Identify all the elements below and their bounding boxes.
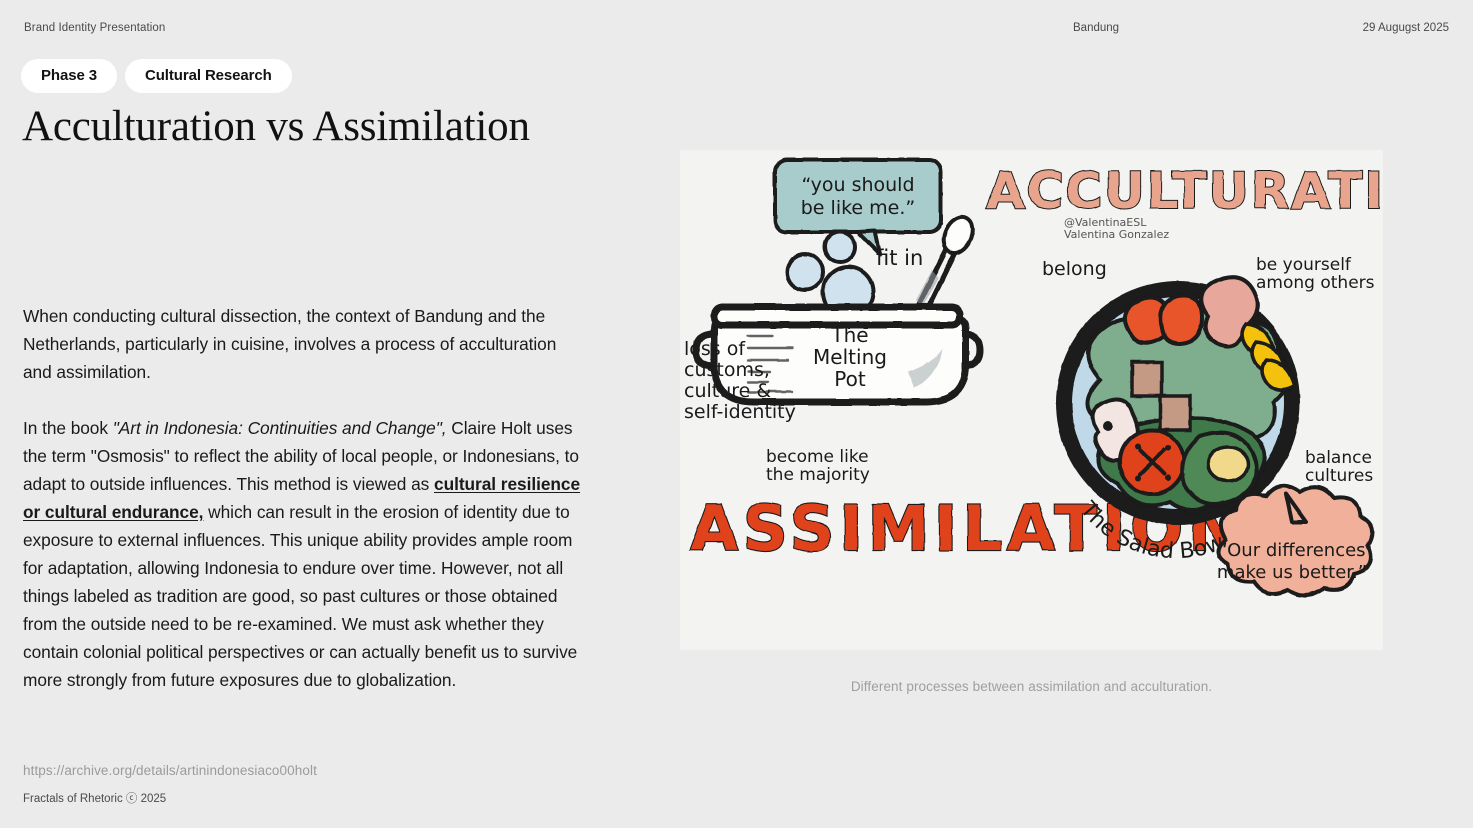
svg-text:Valentina Gonzalez: Valentina Gonzalez	[1064, 228, 1169, 241]
copyright-notice: Fractals of Rhetoric ⓒ 2025	[23, 790, 166, 806]
word-acculturation: ACCULTURATION	[986, 162, 1383, 220]
speech-bubble-right-line2: make us better.”	[1217, 562, 1367, 583]
label-belong: belong	[1042, 258, 1107, 280]
svg-text:the majority: the majority	[766, 465, 870, 485]
svg-text:ACCULTURATION: ACCULTURATION	[986, 162, 1383, 220]
pot-label-line2: Melting	[813, 345, 887, 369]
para2-part-a: In the book	[23, 418, 113, 438]
book-title: "Art in Indonesia: Continuities and Chan…	[113, 418, 447, 438]
label-balance-cultures: balance cultures	[1305, 448, 1373, 486]
pot-label-line3: Pot	[834, 367, 866, 391]
chip-category[interactable]: Cultural Research	[125, 59, 292, 93]
pot-label-line1: The	[830, 323, 868, 347]
assimilation-acculturation-illustration: “you should be like me.” fit in	[680, 150, 1383, 650]
svg-text:loss of: loss of	[684, 338, 746, 360]
svg-text:become like: become like	[766, 447, 869, 467]
svg-text:customs,: customs,	[684, 359, 770, 381]
label-become-like-majority: become like the majority	[766, 447, 870, 485]
svg-text:balance: balance	[1305, 448, 1372, 468]
label-be-yourself: be yourself among others	[1256, 255, 1375, 293]
header-location: Bandung	[1073, 22, 1119, 34]
speech-bubble-right-line1: “Our differences	[1218, 540, 1365, 561]
header-bar: Brand Identity Presentation Bandung 29 A…	[0, 22, 1473, 40]
page-title: Acculturation vs Assimilation	[22, 103, 530, 150]
svg-text:self-identity: self-identity	[684, 401, 796, 423]
figure-caption: Different processes between assimilation…	[680, 679, 1383, 694]
speech-bubble-left-line1: “you should	[801, 174, 914, 196]
svg-text:culture &: culture &	[684, 380, 771, 402]
svg-text:cultures: cultures	[1305, 466, 1373, 486]
para2-part-c: which can result in the erosion of ident…	[23, 502, 577, 690]
svg-text:among others: among others	[1256, 273, 1375, 293]
tag-chip-group: Phase 3 Cultural Research	[21, 59, 292, 93]
paragraph-intro: When conducting cultural dissection, the…	[23, 302, 588, 386]
chip-phase[interactable]: Phase 3	[21, 59, 117, 93]
label-fit-in: fit in	[876, 246, 923, 270]
salad-bowl	[1056, 277, 1300, 525]
header-date: 29 Augugst 2025	[1363, 22, 1449, 34]
illustration-panel: “you should be like me.” fit in	[680, 150, 1383, 650]
body-copy: When conducting cultural dissection, the…	[23, 302, 588, 694]
speech-bubble-left-line2: be like me.”	[801, 197, 915, 219]
presentation-title: Brand Identity Presentation	[24, 22, 165, 34]
svg-text:be yourself: be yourself	[1256, 255, 1352, 275]
source-url[interactable]: https://archive.org/details/artinindones…	[23, 763, 317, 778]
paragraph-book: In the book "Art in Indonesia: Continuit…	[23, 414, 588, 694]
